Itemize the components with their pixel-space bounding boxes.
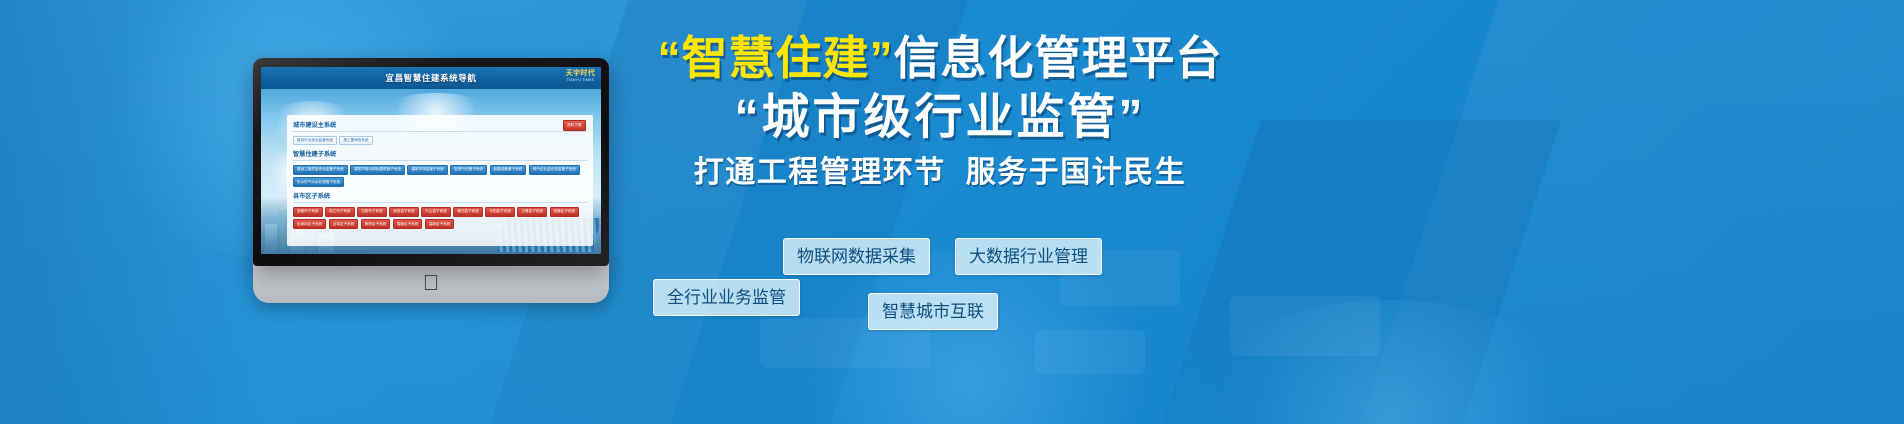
nav-button[interactable]: 建设行业综合监管系统	[293, 136, 337, 146]
nav-button[interactable]: 起重设备管子系统	[490, 165, 527, 175]
nav-button[interactable]: 智慧行光管子系统	[450, 165, 487, 175]
feature-tag-allindustry[interactable]: 全行业业务监管	[653, 279, 800, 316]
nav-button[interactable]: 建设工程质量安全监管子系统	[293, 165, 348, 175]
nav-button[interactable]: 西陵区子系统	[550, 207, 580, 217]
building	[265, 224, 277, 254]
background-glow-2	[1180, 300, 1600, 424]
section-buttons-county-sub-system: 宜都市子系统 枝江市子系统 当阳市子系统 远安县子系统 兴山县子系统 秭归县子系…	[293, 207, 587, 229]
nav-button[interactable]: 秭归县子系统	[453, 207, 483, 217]
section-title-county-sub-system: 县市区子系统	[293, 191, 587, 203]
feature-tag-smartcity[interactable]: 智慧城市互联	[868, 293, 998, 330]
section-title-smart-sub-system: 智慧住建子系统	[293, 149, 587, 161]
headline-tagline: 打通工程管理环节服务于国计民生	[620, 156, 1260, 189]
headline-block: “智慧住建”信息化管理平台 “城市级行业监管” 打通工程管理环节服务于国计民生	[620, 34, 1260, 189]
site-logo-sub: TIANYU TIMES	[566, 79, 595, 83]
background-diagonal-sheet-c	[1284, 0, 1904, 424]
promo-banner:  宜昌智慧住建系统导航 天宇时代 TIANYU TIMES	[0, 0, 1904, 424]
navigation-panel: 资料下载 城市建设主系统 建设行业综合监管系统 施工图审查系统 智慧住建子系统 …	[287, 115, 593, 246]
section-buttons-main-system: 建设行业综合监管系统 施工图审查系统	[293, 136, 587, 146]
nav-button[interactable]: 建筑节能与绿色建筑管子系统	[350, 165, 405, 175]
feature-tag-bigdata[interactable]: 大数据行业管理	[955, 238, 1102, 275]
ghost-card-2	[1230, 296, 1380, 356]
nav-button[interactable]: 伍家岗区子系统	[293, 219, 326, 229]
nav-button[interactable]: 宜都市子系统	[293, 207, 323, 217]
nav-button[interactable]: 兴山县子系统	[421, 207, 451, 217]
site-header: 宜昌智慧住建系统导航 天宇时代 TIANYU TIMES	[261, 67, 601, 89]
nav-button[interactable]: 施工图审查系统	[339, 136, 372, 146]
headline-primary: “智慧住建”信息化管理平台	[620, 34, 1260, 84]
monitor-screen: 宜昌智慧住建系统导航 天宇时代 TIANYU TIMES	[261, 67, 601, 254]
nav-button[interactable]: 远安县子系统	[389, 207, 419, 217]
background-glow-1	[760, 250, 1180, 424]
tagline-left: 打通工程管理环节	[694, 156, 946, 189]
nav-button[interactable]: 建筑市场监管子系统	[407, 165, 447, 175]
download-button[interactable]: 资料下载	[563, 120, 586, 131]
background-left-shade	[0, 0, 270, 424]
site-logo-main: 天宇时代	[566, 70, 595, 77]
headline-primary-rest: 信息化管理平台	[894, 32, 1223, 84]
tagline-right: 服务于国计民生	[966, 156, 1187, 189]
nav-button[interactable]: 枝江市子系统	[325, 207, 355, 217]
feature-tag-iot[interactable]: 物联网数据采集	[783, 238, 930, 275]
site-title: 宜昌智慧住建系统导航	[385, 72, 476, 84]
nav-button[interactable]: 五峰县子系统	[517, 207, 547, 217]
nav-button[interactable]: 高新区子系统	[425, 219, 455, 229]
ghost-card-4	[1035, 330, 1145, 374]
headline-secondary: “城市级行业监管”	[620, 92, 1260, 144]
headline-primary-quoted: “智慧住建”	[658, 32, 894, 84]
nav-button[interactable]: 当阳市子系统	[357, 207, 387, 217]
nav-button[interactable]: 长阳县子系统	[485, 207, 515, 217]
apple-logo-icon: 	[423, 272, 440, 294]
monitor-bezel: 宜昌智慧住建系统导航 天宇时代 TIANYU TIMES	[253, 58, 609, 266]
nav-button[interactable]: 猁亭区子系统	[361, 219, 391, 229]
monitor-mockup:  宜昌智慧住建系统导航 天宇时代 TIANYU TIMES	[253, 58, 609, 303]
nav-button[interactable]: 燃气企业监记录监管子系统	[529, 165, 580, 175]
section-title-main-system: 城市建设主系统	[293, 120, 587, 132]
site-body: 资料下载 城市建设主系统 建设行业综合监管系统 施工图审查系统 智慧住建子系统 …	[261, 89, 601, 254]
nav-button[interactable]: 供水供气污水处理管子系统	[293, 177, 344, 187]
nav-button[interactable]: 点军区子系统	[329, 219, 359, 229]
nav-button[interactable]: 夷陵区子系统	[393, 219, 423, 229]
section-buttons-smart-sub-system: 建设工程质量安全监管子系统 建筑节能与绿色建筑管子系统 建筑市场监管子系统 智慧…	[293, 165, 587, 187]
site-logo: 天宇时代 TIANYU TIMES	[566, 70, 595, 82]
